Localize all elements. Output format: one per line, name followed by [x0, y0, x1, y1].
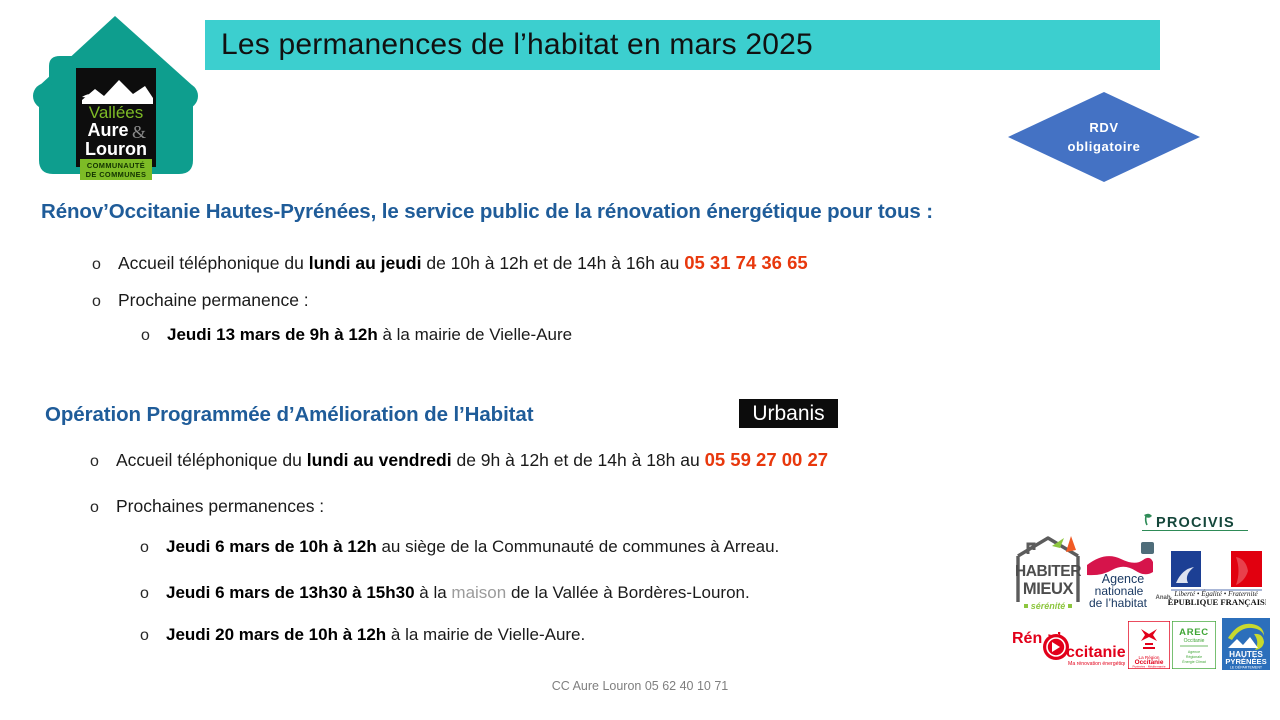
list-item-text: Accueil téléphonique du lundi au jeudi d…	[118, 252, 808, 274]
section-heading-opah: Opération Programmée d’Amélioration de l…	[45, 401, 533, 429]
footer-contact-note: CC Aure Louron 05 62 40 10 71	[0, 679, 1280, 693]
svg-text:sérénité: sérénité	[1031, 601, 1066, 611]
svg-text:RÉPUBLIQUE FRANÇAISE: RÉPUBLIQUE FRANÇAISE	[1168, 597, 1266, 607]
list-item-text: Accueil téléphonique du lundi au vendred…	[116, 449, 828, 471]
svg-text:AREC: AREC	[1179, 627, 1209, 638]
text-run-bold: Jeudi 6 mars de 13h30 à 15h30	[166, 583, 415, 602]
list-item: o Jeudi 20 mars de 10h à 12h à la mairie…	[140, 625, 585, 645]
list-item-text: Prochaines permanences :	[116, 496, 324, 517]
svg-text:Occitanie: Occitanie	[1184, 638, 1205, 644]
list-item: o Jeudi 6 mars de 13h30 à 15h30 à la mai…	[140, 583, 750, 603]
list-item: o Accueil téléphonique du lundi au jeudi…	[92, 252, 808, 274]
text-run: Accueil téléphonique du	[118, 253, 309, 273]
text-run-bold: Jeudi 13 mars de 9h à 12h	[167, 325, 378, 344]
list-item-text: Jeudi 6 mars de 13h30 à 15h30 à la maiso…	[166, 583, 750, 603]
text-run: au siège de la Communauté de communes à …	[377, 537, 780, 556]
bullet-marker: o	[92, 257, 118, 273]
title-banner: Les permanences de l’habitat en mars 202…	[205, 20, 1160, 70]
svg-text:Ma rénovation énergétique: Ma rénovation énergétique	[1068, 661, 1125, 667]
slide-canvas: Vallées Aure & Louron COMMUNAUTÉ DE COMM…	[0, 0, 1280, 720]
text-run-bold: lundi au vendredi	[307, 450, 452, 470]
text-run: de la Vallée à Bordères-Louron.	[506, 583, 750, 602]
list-item-text: Jeudi 20 mars de 10h à 12h à la mairie d…	[166, 625, 585, 645]
svg-text:Agence: Agence	[1188, 650, 1200, 654]
svg-text:de l’habitat: de l’habitat	[1089, 596, 1148, 609]
svg-text:Louron: Louron	[85, 139, 147, 159]
republique-francaise-logo: Liberté • Égalité • Fraternité RÉPUBLIQU…	[1168, 549, 1266, 607]
text-run: à la mairie de Vielle-Aure	[378, 325, 572, 344]
text-run-bold: lundi au jeudi	[309, 253, 422, 273]
svg-text:LE DÉPARTEMENT: LE DÉPARTEMENT	[1230, 665, 1263, 670]
text-run: Prochaines permanences :	[116, 496, 324, 516]
list-item-text: Prochaine permanence :	[118, 290, 309, 311]
text-run: de 10h à 12h et de 14h à 16h au	[421, 253, 684, 273]
list-item: o Prochaine permanence :	[92, 290, 309, 311]
bullet-marker: o	[140, 586, 166, 602]
urbanis-logo: Urbanis	[739, 399, 838, 428]
svg-text:HABITER: HABITER	[1015, 563, 1081, 580]
phone-number: 05 59 27 00 27	[705, 449, 828, 470]
text-run-bold: Jeudi 20 mars de 10h à 12h	[166, 625, 386, 644]
phone-number: 05 31 74 36 65	[684, 252, 807, 273]
text-run-dim: maison	[451, 583, 506, 602]
region-occitanie-logo: La Région Occitanie Pyrénées · Méditerra…	[1128, 621, 1170, 669]
list-item-text: Jeudi 6 mars de 10h à 12h au siège de la…	[166, 537, 779, 557]
renov-occitanie-logo: Rén v’ ccitanie Ma rénovation énergétiqu…	[1010, 625, 1125, 667]
diamond-shape	[1008, 92, 1200, 182]
bullet-marker: o	[92, 294, 118, 310]
text-run: de 9h à 12h et de 14h à 18h au	[452, 450, 705, 470]
section-heading-renov-occitanie: Rénov’Occitanie Hautes-Pyrénées, le serv…	[41, 198, 1141, 226]
bullet-marker: o	[140, 540, 166, 556]
hautes-pyrenees-logo: HAUTES PYRÉNÉES LE DÉPARTEMENT	[1222, 618, 1270, 670]
list-item: o Accueil téléphonique du lundi au vendr…	[90, 449, 828, 471]
svg-text:Énergie Climat: Énergie Climat	[1182, 659, 1206, 664]
list-item: o Jeudi 13 mars de 9h à 12h à la mairie …	[141, 325, 572, 345]
partner-logos: PROCIVIS HABITER MIEUX sérénité	[1000, 508, 1272, 673]
bullet-marker: o	[90, 500, 116, 516]
page-title: Les permanences de l’habitat en mars 202…	[205, 30, 813, 60]
list-item: o Prochaines permanences :	[90, 496, 324, 517]
procivis-logo: PROCIVIS	[1140, 512, 1250, 532]
bullet-marker: o	[90, 454, 116, 470]
svg-text:ccitanie: ccitanie	[1066, 644, 1125, 661]
svg-text:MIEUX: MIEUX	[1023, 580, 1074, 598]
svg-text:Rén: Rén	[1012, 630, 1042, 647]
text-run: Prochaine permanence :	[118, 290, 309, 310]
cc-aure-louron-logo: Vallées Aure & Louron COMMUNAUTÉ DE COMM…	[33, 12, 198, 184]
anah-logo: Agence nationale de l’habitat Anah	[1085, 541, 1177, 609]
list-item-text: Jeudi 13 mars de 9h à 12h à la mairie de…	[167, 325, 572, 345]
svg-text:DE COMMUNES: DE COMMUNES	[86, 170, 147, 179]
rdv-required-badge: RDV obligatoire	[1008, 92, 1200, 182]
text-run: à la	[415, 583, 452, 602]
bullet-marker: o	[141, 328, 167, 344]
svg-text:Régionale: Régionale	[1186, 655, 1202, 659]
text-run: à la mairie de Vielle-Aure.	[386, 625, 585, 644]
svg-text:Pyrénées · Méditerranée: Pyrénées · Méditerranée	[1132, 665, 1165, 669]
svg-text:PROCIVIS: PROCIVIS	[1156, 515, 1235, 531]
svg-text:Aure: Aure	[87, 120, 128, 140]
arec-occitanie-logo: AREC Occitanie Agence Régionale Énergie …	[1172, 621, 1216, 669]
svg-text:COMMUNAUTÉ: COMMUNAUTÉ	[87, 161, 145, 170]
list-item: o Jeudi 6 mars de 10h à 12h au siège de …	[140, 537, 779, 557]
text-run-bold: Jeudi 6 mars de 10h à 12h	[166, 537, 377, 556]
text-run: Accueil téléphonique du	[116, 450, 307, 470]
habiter-mieux-logo: HABITER MIEUX sérénité	[1008, 530, 1088, 612]
bullet-marker: o	[140, 628, 166, 644]
